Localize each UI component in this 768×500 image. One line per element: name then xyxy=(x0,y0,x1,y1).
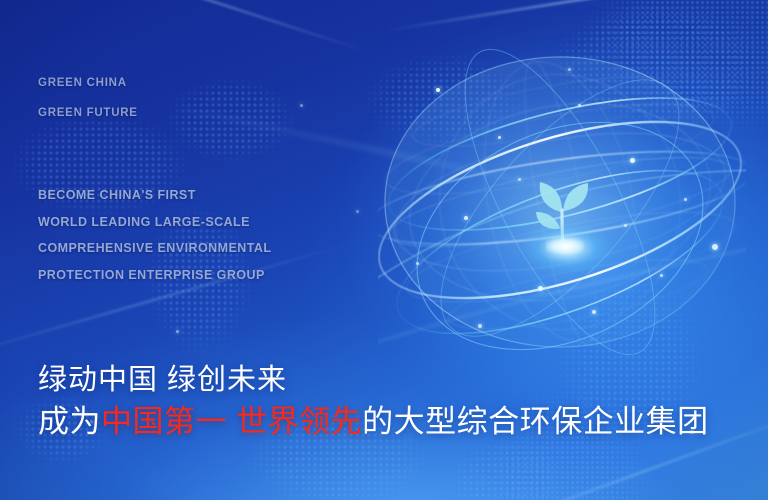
headline-secondary-accent: 中国第一 世界领先 xyxy=(101,404,362,439)
tagline-top-line-1: GREEN CHINA xyxy=(38,68,138,98)
tagline-body-line-4: PROTECTION ENTERPRISE GROUP xyxy=(38,262,271,289)
headline-block: 绿动中国 绿创未来 成为中国第一 世界领先的大型综合环保企业集团 xyxy=(38,360,709,444)
globe-graphic xyxy=(378,48,746,356)
headline-secondary: 成为中国第一 世界领先的大型综合环保企业集团 xyxy=(38,400,709,444)
headline-secondary-suffix: 的大型综合环保企业集团 xyxy=(362,404,709,439)
tagline-body-line-1: BECOME CHINA'S FIRST xyxy=(38,182,271,209)
tagline-body: BECOME CHINA'S FIRST WORLD LEADING LARGE… xyxy=(38,182,271,288)
tagline-top: GREEN CHINA GREEN FUTURE xyxy=(38,68,138,128)
headline-secondary-prefix: 成为 xyxy=(38,404,101,439)
headline-primary: 绿动中国 绿创未来 xyxy=(38,360,709,400)
light-streak-icon xyxy=(0,0,369,53)
core-flare-highlight xyxy=(546,238,584,254)
hero-banner: GREEN CHINA GREEN FUTURE BECOME CHINA'S … xyxy=(0,0,768,500)
tagline-body-line-2: WORLD LEADING LARGE-SCALE xyxy=(38,209,271,236)
tagline-body-line-3: COMPREHENSIVE ENVIRONMENTAL xyxy=(38,235,271,262)
tagline-top-line-2: GREEN FUTURE xyxy=(38,98,138,128)
